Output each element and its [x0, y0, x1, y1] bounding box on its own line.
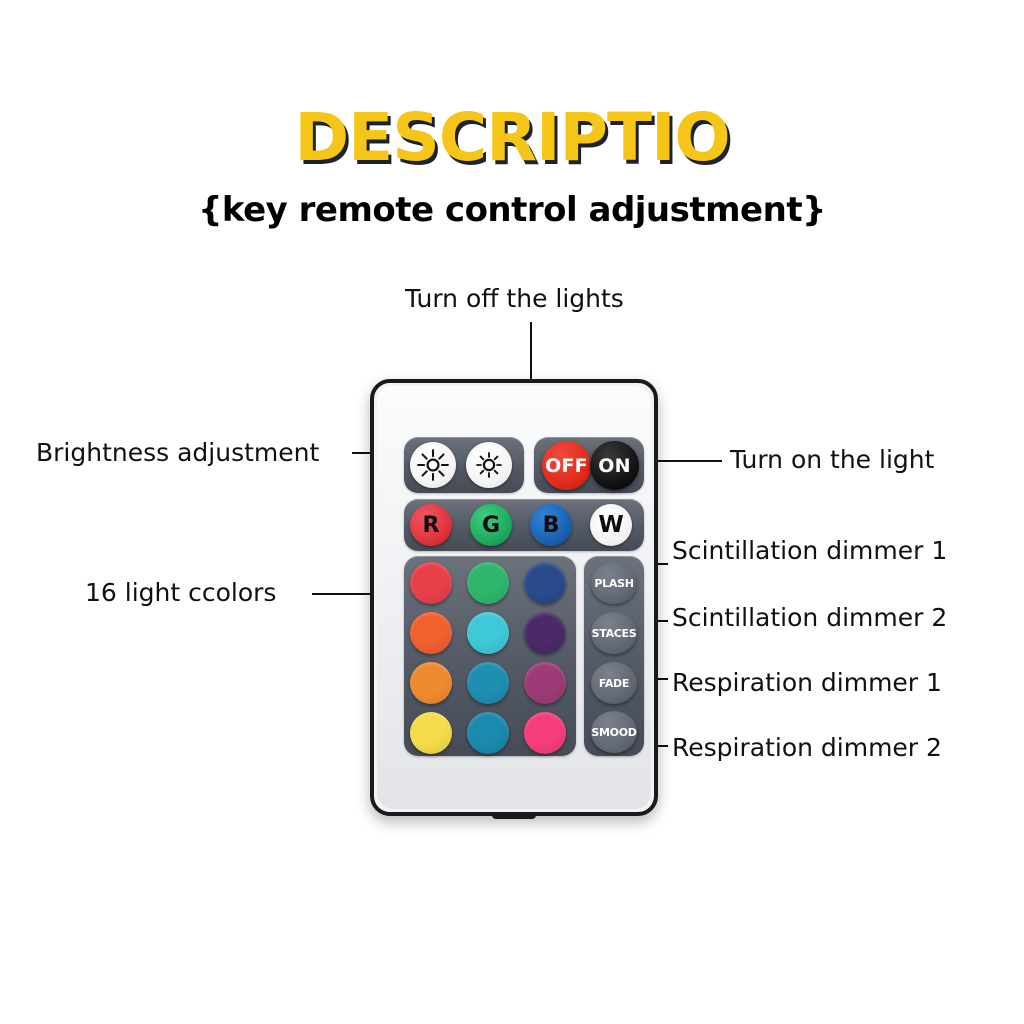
- rgbw-button-panel: R G B W: [404, 499, 644, 551]
- red-channel-button[interactable]: R: [410, 504, 452, 546]
- fade-mode-button[interactable]: FADE: [591, 662, 637, 704]
- color-button-r2-c3[interactable]: [524, 612, 566, 654]
- leader-line-turn-on: [650, 460, 722, 462]
- ir-emitter-notch: [492, 814, 536, 819]
- callout-scintillation-dimmer-2: Scintillation dimmer 2: [672, 605, 947, 630]
- smooth-mode-button[interactable]: SMOOD: [591, 711, 637, 753]
- flash-mode-button[interactable]: PLASH: [591, 562, 637, 604]
- color-button-r1-c2[interactable]: [467, 562, 509, 604]
- power-button-panel: OFF ON: [534, 437, 644, 493]
- strobe-mode-button[interactable]: STACES: [591, 612, 637, 654]
- sun-dim-icon[interactable]: [466, 442, 512, 488]
- color-button-r3-c3[interactable]: [524, 662, 566, 704]
- callout-turn-off-the-lights: Turn off the lights: [405, 286, 624, 311]
- page-title: DESCRIPTIO: [0, 105, 1024, 171]
- brightness-button-panel: [404, 437, 524, 493]
- callout-respiration-dimmer-2: Respiration dimmer 2: [672, 735, 942, 760]
- callout-16-light-colors: 16 light ccolors: [85, 580, 276, 605]
- color-button-r2-c2[interactable]: [467, 612, 509, 654]
- sun-bright-icon-glyph: [416, 448, 450, 482]
- color-button-r3-c1[interactable]: [410, 662, 452, 704]
- callout-turn-on-the-light: Turn on the light: [730, 447, 934, 472]
- blue-channel-button[interactable]: B: [530, 504, 572, 546]
- callout-respiration-dimmer-1: Respiration dimmer 1: [672, 670, 942, 695]
- sun-dim-icon-glyph: [472, 448, 506, 482]
- color-button-r3-c2[interactable]: [467, 662, 509, 704]
- on-button[interactable]: ON: [590, 441, 639, 490]
- color-button-r4-c3[interactable]: [524, 712, 566, 754]
- color-button-r1-c1[interactable]: [410, 562, 452, 604]
- color-button-r4-c2[interactable]: [467, 712, 509, 754]
- remote-faceplate: OFF ON R G B W PLASH STACES FADE SMOOD: [377, 386, 651, 809]
- callout-scintillation-dimmer-1: Scintillation dimmer 1: [672, 538, 947, 563]
- page-subtitle: {key remote control adjustment}: [0, 190, 1024, 230]
- color-grid-panel: [404, 556, 576, 756]
- green-channel-button[interactable]: G: [470, 504, 512, 546]
- off-button[interactable]: OFF: [542, 441, 591, 490]
- color-button-r1-c3[interactable]: [524, 562, 566, 604]
- color-button-r4-c1[interactable]: [410, 712, 452, 754]
- remote-control-device: OFF ON R G B W PLASH STACES FADE SMOOD: [370, 379, 658, 816]
- callout-brightness-adjustment: Brightness adjustment: [36, 440, 319, 465]
- mode-button-panel: PLASH STACES FADE SMOOD: [584, 556, 644, 756]
- leader-line-colors: [312, 593, 378, 595]
- sun-bright-icon[interactable]: [410, 442, 456, 488]
- white-channel-button[interactable]: W: [590, 504, 632, 546]
- color-button-r2-c1[interactable]: [410, 612, 452, 654]
